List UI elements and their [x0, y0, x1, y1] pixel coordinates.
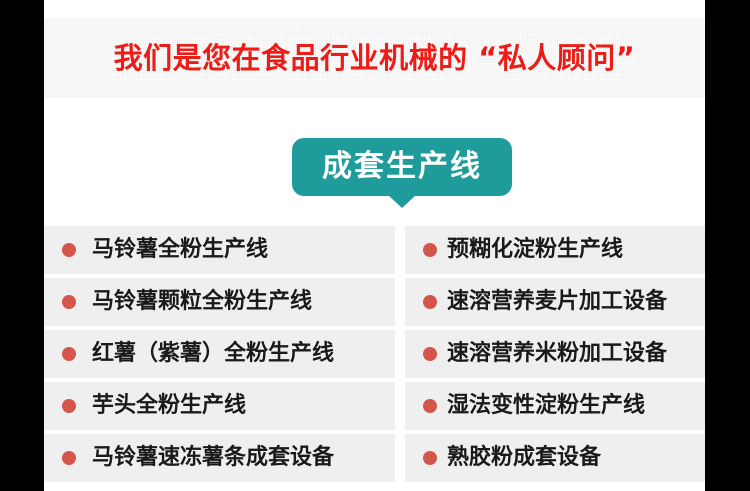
- bullet-dot-icon: [423, 243, 437, 257]
- list-item-label: 芋头全粉生产线: [92, 395, 246, 417]
- bullet-dot-icon: [62, 399, 76, 413]
- list-item[interactable]: 预糊化淀粉生产线: [405, 226, 705, 274]
- header-banner: 我们是您在食品行业机械的 “私人顾问”: [44, 18, 705, 98]
- bullet-dot-icon: [62, 243, 76, 257]
- product-list-left: 马铃薯全粉生产线 马铃薯颗粒全粉生产线 红薯（紫薯）全粉生产线 芋头全粉生产线 …: [44, 226, 395, 482]
- list-item[interactable]: 芋头全粉生产线: [44, 382, 395, 430]
- list-item-label: 预糊化淀粉生产线: [447, 239, 623, 261]
- list-item[interactable]: 马铃薯颗粒全粉生产线: [44, 278, 395, 326]
- product-lists: 马铃薯全粉生产线 马铃薯颗粒全粉生产线 红薯（紫薯）全粉生产线 芋头全粉生产线 …: [44, 226, 705, 482]
- list-item[interactable]: 湿法变性淀粉生产线: [405, 382, 705, 430]
- bullet-dot-icon: [423, 347, 437, 361]
- list-item[interactable]: 马铃薯全粉生产线: [44, 226, 395, 274]
- bullet-dot-icon: [423, 295, 437, 309]
- list-item-label: 马铃薯颗粒全粉生产线: [92, 291, 312, 313]
- list-item[interactable]: 速溶营养米粉加工设备: [405, 330, 705, 378]
- list-item[interactable]: 马铃薯速冻薯条成套设备: [44, 434, 395, 482]
- list-item-label: 马铃薯速冻薯条成套设备: [92, 447, 334, 469]
- bullet-dot-icon: [423, 399, 437, 413]
- bullet-dot-icon: [423, 451, 437, 465]
- page-root: 我们是您在食品行业机械的 “私人顾问” 成套生产线 马铃薯全粉生产线 马铃薯颗粒…: [0, 0, 750, 491]
- bullet-dot-icon: [62, 347, 76, 361]
- list-item[interactable]: 速溶营养麦片加工设备: [405, 278, 705, 326]
- list-item-label: 熟胶粉成套设备: [447, 447, 601, 469]
- product-list-right: 预糊化淀粉生产线 速溶营养麦片加工设备 速溶营养米粉加工设备 湿法变性淀粉生产线…: [405, 226, 705, 482]
- list-item-label: 湿法变性淀粉生产线: [447, 395, 645, 417]
- bullet-dot-icon: [62, 451, 76, 465]
- list-item-label: 红薯（紫薯）全粉生产线: [92, 343, 334, 365]
- list-item-label: 速溶营养米粉加工设备: [447, 343, 667, 365]
- section-badge-tail-icon: [388, 195, 416, 208]
- content-panel: 我们是您在食品行业机械的 “私人顾问” 成套生产线 马铃薯全粉生产线 马铃薯颗粒…: [44, 0, 705, 491]
- section-badge: 成套生产线: [292, 138, 512, 208]
- bullet-dot-icon: [62, 295, 76, 309]
- list-item[interactable]: 熟胶粉成套设备: [405, 434, 705, 482]
- list-item-label: 速溶营养麦片加工设备: [447, 291, 667, 313]
- section-badge-body: 成套生产线: [292, 138, 512, 196]
- list-item[interactable]: 红薯（紫薯）全粉生产线: [44, 330, 395, 378]
- list-item-label: 马铃薯全粉生产线: [92, 239, 268, 261]
- page-title: 我们是您在食品行业机械的 “私人顾问”: [114, 44, 636, 73]
- section-badge-label: 成套生产线: [322, 152, 482, 182]
